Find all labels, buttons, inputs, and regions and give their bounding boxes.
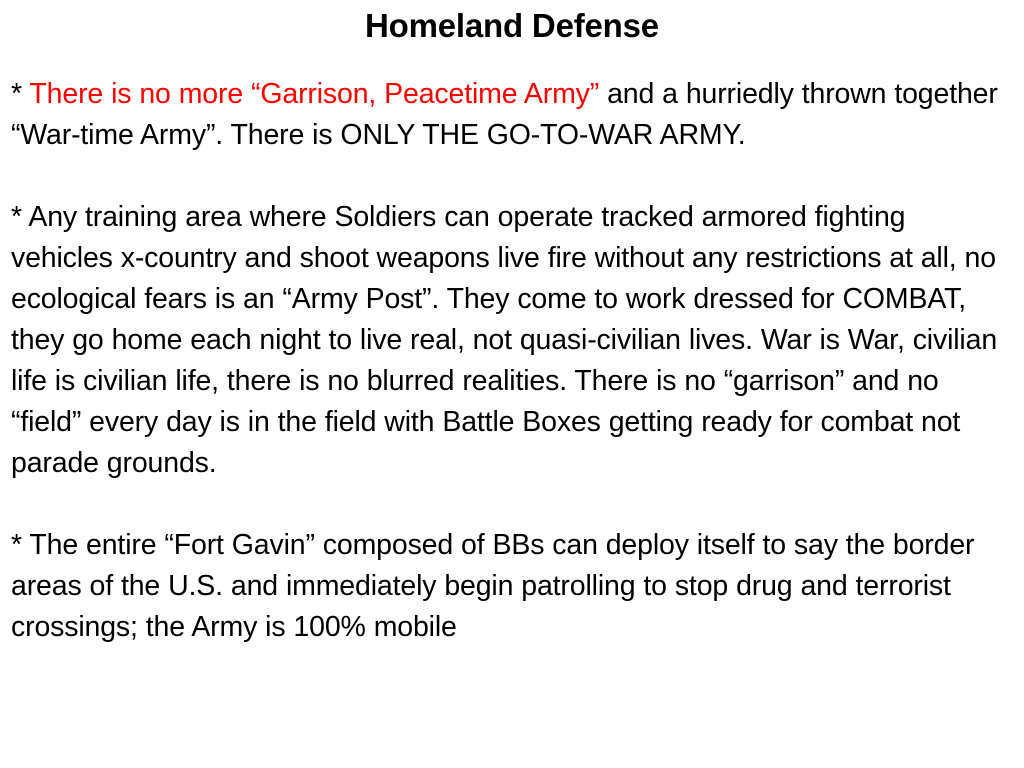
bullet-marker: *: [11, 78, 22, 110]
bullet-paragraph-2: * Any training area where Soldiers can o…: [11, 197, 1011, 484]
slide-canvas: Homeland Defense * There is no more “Gar…: [0, 0, 1024, 768]
slide-body: * There is no more “Garrison, Peacetime …: [11, 74, 1011, 648]
bullet-marker: *: [11, 529, 22, 561]
page-title: Homeland Defense: [0, 6, 1024, 46]
paragraph-2-text: Any training area where Soldiers can ope…: [11, 201, 997, 479]
highlighted-phrase: There is no more “Garrison, Peacetime Ar…: [29, 78, 599, 110]
bullet-paragraph-3: * The entire “Fort Gavin” composed of BB…: [11, 525, 1011, 648]
bullet-paragraph-1: * There is no more “Garrison, Peacetime …: [11, 74, 1011, 156]
paragraph-3-text: The entire “Fort Gavin” composed of BBs …: [11, 529, 974, 643]
paragraph-spacer-1: [11, 156, 1011, 197]
paragraph-spacer-2: [11, 484, 1011, 525]
bullet-marker: *: [11, 201, 22, 233]
